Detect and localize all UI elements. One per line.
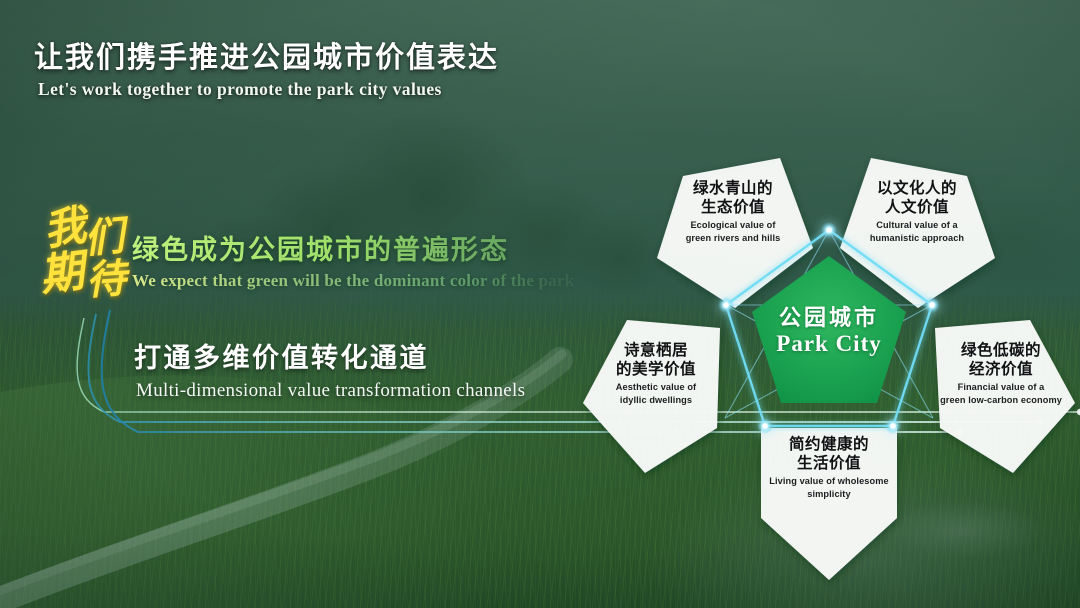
- petal-shape-economic[interactable]: [935, 320, 1075, 473]
- headline-zh: 让我们携手推进公园城市价值表达: [34, 34, 499, 76]
- expect-statement-en: We expect that green will be the dominan…: [132, 271, 574, 291]
- calligraphy-char-4: 待: [85, 259, 128, 302]
- calligraphy-char-3: 期: [37, 249, 86, 298]
- slide-headline: 让我们携手推进公园城市价值表达 Let's work together to p…: [34, 34, 499, 100]
- channels-statement: 打通多维价值转化通道 Multi-dimensional value trans…: [134, 336, 525, 402]
- channels-statement-zh: 打通多维价值转化通道: [134, 336, 525, 375]
- headline-en: Let's work together to promote the park …: [38, 79, 499, 100]
- calligraphy-char-2: 们: [82, 216, 125, 259]
- petal-shape-aesthetic[interactable]: [583, 320, 720, 473]
- calligraphy-char-1: 我: [41, 205, 89, 253]
- petal-shape-living[interactable]: [761, 428, 897, 580]
- expect-statement-zh: 绿色成为公园城市的普遍形态: [132, 228, 574, 267]
- expect-statement: 绿色成为公园城市的普遍形态 We expect that green will …: [132, 228, 574, 291]
- channels-statement-en: Multi-dimensional value transformation c…: [136, 380, 525, 402]
- pentagon-diagram-svg: [575, 128, 1080, 583]
- slide-canvas: 让我们携手推进公园城市价值表达 Let's work together to p…: [0, 0, 1080, 608]
- park-city-pentagon-diagram: 绿水青山的 生态价值 Ecological value of green riv…: [575, 128, 1080, 583]
